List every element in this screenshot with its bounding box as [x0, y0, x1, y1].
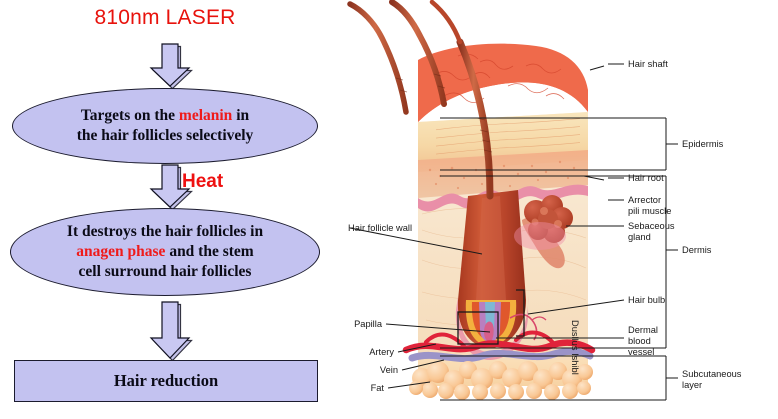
arrow-down-1: [148, 42, 192, 88]
skin-block-illustration: Dusllus Ishibl: [350, 2, 593, 400]
label-artery: Artery: [369, 347, 394, 357]
leader-hair-shaft-tick: [590, 66, 604, 70]
arrow-down-3: [148, 300, 192, 346]
step2-line2-b: and the stem: [165, 243, 253, 260]
flow-node-hair-reduction: Hair reduction: [14, 360, 318, 402]
step1-line1-b: in: [232, 107, 249, 124]
hair-shaft-center-tip: [432, 2, 460, 42]
label-papilla: Papilla: [354, 319, 383, 329]
flow-node-destroy-follicles-text: It destroys the hair follicles in anagen…: [45, 222, 285, 281]
label-dermal-line2: blood: [628, 336, 651, 346]
label-dermal-line1: Dermal: [628, 325, 658, 335]
label-dermal-line3: vessel: [628, 347, 654, 357]
skin-hair-follicle-diagram: Dusllus Ishibl: [340, 0, 778, 419]
sebaceous-gland-halo: [514, 222, 566, 250]
label-epidermis: Epidermis: [682, 139, 724, 149]
artist-signature: Dusllus Ishibl: [570, 320, 580, 375]
step1-line1-a: Targets on the: [81, 107, 179, 124]
step1-highlight-melanin: melanin: [179, 107, 232, 124]
label-hair-bulb: Hair bulb: [628, 295, 665, 305]
label-hair-follicle-wall: Hair follicle wall: [348, 223, 412, 233]
label-fat: Fat: [371, 383, 385, 393]
label-vein: Vein: [380, 365, 398, 375]
label-hair-shaft: Hair shaft: [628, 59, 668, 69]
hair-shaft-far-left: [350, 4, 406, 112]
step2-line1: It destroys the hair follicles in: [67, 223, 263, 240]
skin-surface-face: [418, 44, 588, 122]
step2-highlight-anagen: anagen phase: [76, 243, 165, 260]
label-dermis: Dermis: [682, 245, 712, 255]
label-subcutaneous-line1: Subcutaneous: [682, 369, 742, 379]
flowchart-title: 810nm LASER: [0, 6, 330, 30]
label-subcutaneous-line2: layer: [682, 380, 702, 390]
step1-line2: the hair follicles selectively: [77, 127, 254, 144]
step2-line3: cell surround hair follicles: [79, 263, 252, 280]
flow-node-target-melanin-text: Targets on the melanin in the hair folli…: [47, 106, 284, 146]
label-sebaceous-line2: gland: [628, 232, 651, 242]
label-sebaceous-line1: Sebaceous: [628, 221, 675, 231]
flow-node-hair-reduction-text: Hair reduction: [114, 371, 218, 391]
heat-label: Heat: [182, 171, 223, 193]
flow-node-target-melanin: Targets on the melanin in the hair folli…: [12, 88, 318, 164]
label-hair-root: Hair root: [628, 173, 664, 183]
flow-node-destroy-follicles: It destroys the hair follicles in anagen…: [10, 208, 320, 296]
screenshot-root: 810nm LASER Targets on the melanin in th…: [0, 0, 778, 419]
label-arrector-pili-line1: Arrector: [628, 195, 661, 205]
laser-mechanism-flowchart: 810nm LASER Targets on the melanin in th…: [0, 0, 340, 419]
label-arrector-pili-line2: pili muscle: [628, 206, 671, 216]
